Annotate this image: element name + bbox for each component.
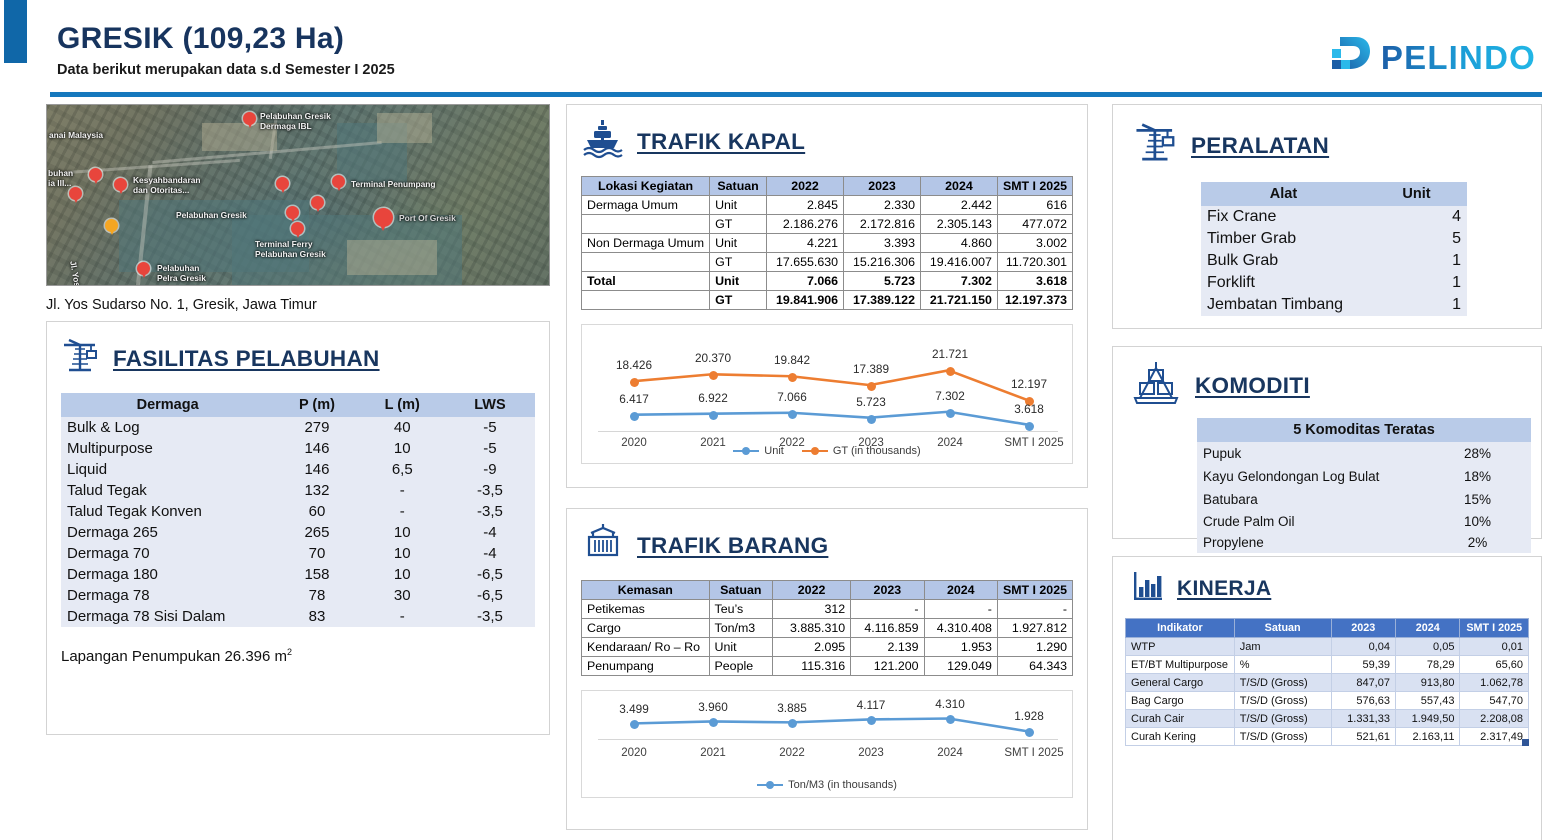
cell-p: 265	[274, 522, 359, 543]
chart-legend: Ton/M3 (in thousands)	[582, 779, 1072, 791]
cell-2024: 78,29	[1395, 656, 1459, 674]
pelindo-wordmark: PELINDO	[1381, 39, 1536, 77]
page-title: GRESIK (109,23 Ha)	[57, 22, 344, 56]
map-building	[377, 113, 432, 143]
page-subtitle: Data berikut merupakan data s.d Semester…	[57, 62, 395, 78]
chart-xtick: 2022	[754, 747, 830, 759]
table-row: GT17.655.63015.216.30619.416.00711.720.3…	[582, 253, 1073, 272]
cell-name: Dermaga 70	[61, 543, 274, 564]
map-label: Pelabuhan Pelra Gresik	[157, 263, 206, 283]
chart-point	[709, 718, 718, 727]
cell-lws: -5	[445, 417, 535, 438]
cell-p: 146	[274, 438, 359, 459]
chart-legend: Unit GT (in thousands)	[582, 445, 1072, 457]
legend-item-tonm3[interactable]: Ton/M3 (in thousands)	[757, 779, 897, 791]
chart-point	[946, 715, 955, 724]
cell-smt: 2.317,49	[1460, 728, 1529, 746]
legend-item-gt[interactable]: GT (in thousands)	[802, 445, 921, 457]
cell-komoditas: Crude Palm Oil	[1197, 511, 1424, 532]
chart-label-unit: 3.618	[991, 402, 1067, 416]
table-row: Talud Tegak132--3,5	[61, 480, 535, 501]
location-map[interactable]: Pelabuhan Gresik Dermaga IBL anai Malays…	[46, 104, 550, 286]
chart-point	[630, 720, 639, 729]
cell-l: 10	[360, 564, 445, 585]
cell-satuan: Unit	[710, 272, 767, 291]
cell-lws: -3,5	[445, 480, 535, 501]
cell-indikator: Curah Cair	[1126, 710, 1235, 728]
chart-xtick: 2023	[833, 747, 909, 759]
crane-icon	[61, 336, 101, 381]
col-smt: SMT I 2025	[997, 581, 1072, 600]
lapangan-penumpukan-text: Lapangan Penumpukan 26.396 m	[61, 648, 287, 665]
cell-2023: 521,61	[1331, 728, 1395, 746]
cell-alat: Fix Crane	[1201, 206, 1366, 228]
cell-satuan: GT	[710, 253, 767, 272]
cell-2024: 7.302	[920, 272, 997, 291]
col-2024: 2024	[1395, 619, 1459, 638]
cell-lokasi: Dermaga Umum	[582, 196, 710, 215]
chart-point-unit	[788, 410, 797, 419]
cell-smt: 3.618	[997, 272, 1072, 291]
cell-2022: 2.095	[773, 638, 851, 657]
cell-satuan: Unit	[710, 234, 767, 253]
lapangan-penumpukan-note: Lapangan Penumpukan 26.396 m2	[61, 647, 535, 665]
cell-name: Bulk & Log	[61, 417, 274, 438]
trafik-barang-heading: TRAFIK BARANG	[581, 521, 1073, 570]
map-label: Terminal Ferry Pelabuhan Gresik	[255, 239, 326, 259]
chart-label: 1.928	[991, 709, 1067, 723]
map-pin[interactable]	[137, 262, 150, 275]
cell-persen: 10%	[1424, 511, 1531, 532]
table-row: Dermaga UmumUnit2.8452.3302.442616	[582, 196, 1073, 215]
fasilitas-title: FASILITAS PELABUHAN	[113, 346, 380, 372]
map-label: Kesyahbandaran dan Otoritas...	[133, 175, 201, 195]
cell-alat: Jembatan Timbang	[1201, 294, 1366, 316]
cell-lokasi	[582, 253, 710, 272]
chart-label-unit: 6.417	[596, 392, 672, 406]
map-pin[interactable]	[276, 177, 289, 190]
chart-label-gt: 12.197	[991, 377, 1067, 391]
cell-smt: 1.062,78	[1460, 674, 1529, 692]
table-header-row: Indikator Satuan 2023 2024 SMT I 2025	[1126, 619, 1529, 638]
cell-lokasi	[582, 291, 710, 310]
legend-swatch-unit	[733, 450, 759, 453]
container-icon	[581, 521, 625, 570]
col-lws: LWS	[445, 393, 535, 417]
cell-2022: 312	[773, 600, 851, 619]
chart-point	[1025, 728, 1034, 737]
cell-lws: -4	[445, 543, 535, 564]
cargo-crate-icon	[1129, 359, 1183, 412]
cell-satuan: Unit	[710, 196, 767, 215]
cell-alat: Bulk Grab	[1201, 250, 1366, 272]
cell-persen: 28%	[1424, 442, 1531, 465]
cell-satuan: Ton/m3	[709, 619, 772, 638]
table-row: Non Dermaga UmumUnit4.2213.3934.8603.002	[582, 234, 1073, 253]
cell-l: 6,5	[360, 459, 445, 480]
cell-2023: 2.330	[844, 196, 921, 215]
table-row: Jembatan Timbang1	[1201, 294, 1467, 316]
table-row: Fix Crane4	[1201, 206, 1467, 228]
table-header-row: 5 Komoditas Teratas	[1197, 418, 1531, 442]
legend-label-gt: GT (in thousands)	[833, 445, 921, 457]
legend-swatch-gt	[802, 450, 828, 453]
map-label: Terminal Penumpang	[351, 179, 436, 189]
chart-label-gt: 19.842	[754, 353, 830, 367]
map-pin[interactable]	[69, 187, 82, 200]
port-address: Jl. Yos Sudarso No. 1, Gresik, Jawa Timu…	[46, 297, 558, 313]
col-2024: 2024	[924, 581, 997, 600]
cell-lokasi	[582, 215, 710, 234]
header-accent-bar	[4, 0, 27, 63]
cell-p: 78	[274, 585, 359, 606]
chart-point-unit	[630, 412, 639, 421]
komoditi-card: KOMODITI 5 Komoditas Teratas Pupuk28% Ka…	[1112, 346, 1542, 539]
cell-smt: 64.343	[997, 657, 1072, 676]
chart-point	[867, 716, 876, 725]
cell-satuan: GT	[710, 215, 767, 234]
cell-2024: 557,43	[1395, 692, 1459, 710]
cell-l: 10	[360, 522, 445, 543]
col-unit: Unit	[1366, 182, 1467, 206]
col-satuan: Satuan	[1234, 619, 1331, 638]
map-pin[interactable]	[286, 206, 299, 219]
col-dermaga: Dermaga	[61, 393, 274, 417]
cell-name: Talud Tegak	[61, 480, 274, 501]
cell-satuan: T/S/D (Gross)	[1234, 674, 1331, 692]
cell-smt: -	[997, 600, 1072, 619]
col-2022: 2022	[767, 177, 844, 196]
table-row: Dermaga 18015810-6,5	[61, 564, 535, 585]
map-pin[interactable]	[291, 222, 304, 235]
cell-kemasan: Penumpang	[582, 657, 710, 676]
cell-2023: 2.139	[851, 638, 924, 657]
chart-label-unit: 7.066	[754, 390, 830, 404]
cell-p: 83	[274, 606, 359, 627]
col-2022: 2022	[773, 581, 851, 600]
table-row: Timber Grab5	[1201, 228, 1467, 250]
cell-lws: -4	[445, 522, 535, 543]
col-kemasan: Kemasan	[582, 581, 710, 600]
cell-satuan: Jam	[1234, 638, 1331, 656]
komoditi-table-header: 5 Komoditas Teratas	[1197, 418, 1531, 442]
peralatan-title: PERALATAN	[1191, 133, 1329, 159]
chart-point-gt	[709, 371, 718, 380]
table-row: WTPJam0,040,050,01	[1126, 638, 1529, 656]
cell-2022: 7.066	[767, 272, 844, 291]
cell-2023: 5.723	[844, 272, 921, 291]
cell-2024: 2.442	[920, 196, 997, 215]
cell-2024: 1.949,50	[1395, 710, 1459, 728]
cell-unit: 4	[1366, 206, 1467, 228]
cell-satuan: %	[1234, 656, 1331, 674]
trafik-kapal-table: Lokasi Kegiatan Satuan 2022 2023 2024 SM…	[581, 176, 1073, 310]
col-satuan: Satuan	[709, 581, 772, 600]
map-label: anai Malaysia	[49, 130, 103, 140]
map-pin[interactable]	[332, 175, 345, 188]
cell-p: 132	[274, 480, 359, 501]
cell-lws: -3,5	[445, 606, 535, 627]
cell-lokasi: Non Dermaga Umum	[582, 234, 710, 253]
table-row-total: TotalUnit7.0665.7237.3023.618	[582, 272, 1073, 291]
cell-2023: 4.116.859	[851, 619, 924, 638]
col-indikator: Indikator	[1126, 619, 1235, 638]
cell-lws: -3,5	[445, 501, 535, 522]
ship-icon	[581, 117, 625, 166]
crane-icon	[1133, 119, 1179, 172]
table-row: Pupuk28%	[1197, 442, 1531, 465]
cell-l: -	[360, 501, 445, 522]
unit-superscript: 2	[287, 647, 292, 657]
table-row: ET/BT Multipurpose%59,3978,2965,60	[1126, 656, 1529, 674]
cell-smt: 2.208,08	[1460, 710, 1529, 728]
table-header-row: Lokasi Kegiatan Satuan 2022 2023 2024 SM…	[582, 177, 1073, 196]
pelindo-logo: PELINDO	[1326, 33, 1536, 82]
table-row: Talud Tegak Konven60--3,5	[61, 501, 535, 522]
table-row: Propylene2%	[1197, 532, 1531, 553]
col-l: L (m)	[360, 393, 445, 417]
kinerja-table-wrap: Indikator Satuan 2023 2024 SMT I 2025 WT…	[1125, 618, 1529, 746]
chart-label-gt: 20.370	[675, 351, 751, 365]
cell-p: 279	[274, 417, 359, 438]
legend-label-unit: Unit	[764, 445, 784, 457]
cell-satuan: T/S/D (Gross)	[1234, 710, 1331, 728]
cell-smt: 0,01	[1460, 638, 1529, 656]
cell-smt: 1.290	[997, 638, 1072, 657]
cell-p: 70	[274, 543, 359, 564]
peralatan-table: Alat Unit Fix Crane4 Timber Grab5 Bulk G…	[1201, 182, 1467, 316]
cell-lws: -9	[445, 459, 535, 480]
cell-unit: 5	[1366, 228, 1467, 250]
cell-name: Multipurpose	[61, 438, 274, 459]
cell-2024: 21.721.150	[920, 291, 997, 310]
trafik-barang-title: TRAFIK BARANG	[637, 533, 828, 559]
cell-2024: 913,80	[1395, 674, 1459, 692]
cell-l: -	[360, 480, 445, 501]
cell-2023: 17.389.122	[844, 291, 921, 310]
right-column: PERALATAN Alat Unit Fix Crane4 Timber Gr…	[1112, 104, 1542, 840]
cell-2022: 17.655.630	[767, 253, 844, 272]
legend-label-tonm3: Ton/M3 (in thousands)	[788, 779, 897, 791]
cell-unit: 1	[1366, 294, 1467, 316]
cell-2024: 129.049	[924, 657, 997, 676]
map-pin[interactable]	[311, 196, 324, 209]
cell-2024: -	[924, 600, 997, 619]
cell-2024: 1.953	[924, 638, 997, 657]
cell-2023: 121.200	[851, 657, 924, 676]
middle-column: TRAFIK KAPAL Lokasi Kegiatan Satuan 2022…	[566, 104, 1088, 830]
map-pin[interactable]	[89, 168, 102, 181]
cell-persen: 15%	[1424, 488, 1531, 511]
peralatan-card: PERALATAN Alat Unit Fix Crane4 Timber Gr…	[1112, 104, 1542, 329]
cell-2023: -	[851, 600, 924, 619]
cell-smt: 616	[997, 196, 1072, 215]
map-label: buhan ia III...	[48, 168, 73, 188]
table-row: General CargoT/S/D (Gross)847,07913,801.…	[1126, 674, 1529, 692]
chart-label: 3.499	[596, 702, 672, 716]
map-pin[interactable]	[243, 112, 256, 125]
chart-label: 3.885	[754, 701, 830, 715]
cell-p: 60	[274, 501, 359, 522]
kinerja-table: Indikator Satuan 2023 2024 SMT I 2025 WT…	[1125, 618, 1529, 746]
chart-xtick: 2024	[912, 747, 988, 759]
table-resize-handle[interactable]	[1522, 739, 1529, 746]
cell-lws: -6,5	[445, 564, 535, 585]
cell-persen: 18%	[1424, 465, 1531, 488]
cell-2024: 19.416.007	[920, 253, 997, 272]
chart-point-unit	[867, 415, 876, 424]
cell-2024: 4.860	[920, 234, 997, 253]
cell-name: Dermaga 78 Sisi Dalam	[61, 606, 274, 627]
chart-point-unit	[709, 411, 718, 420]
chart-label-unit: 7.302	[912, 389, 988, 403]
chart-point-gt	[946, 367, 955, 376]
map-pin[interactable]	[114, 178, 127, 191]
cell-satuan: T/S/D (Gross)	[1234, 692, 1331, 710]
komoditi-heading: KOMODITI	[1125, 359, 1529, 412]
cell-indikator: Bag Cargo	[1126, 692, 1235, 710]
map-label: Pelabuhan Gresik	[176, 210, 247, 220]
map-building	[347, 240, 437, 275]
fasilitas-card: FASILITAS PELABUHAN Dermaga P (m) L (m) …	[46, 321, 550, 735]
chart-label-gt: 18.426	[596, 358, 672, 372]
cell-2023: 59,39	[1331, 656, 1395, 674]
trafik-kapal-title: TRAFIK KAPAL	[637, 129, 805, 155]
map-pin-restaurant[interactable]	[105, 219, 118, 232]
cell-name: Dermaga 78	[61, 585, 274, 606]
table-row: Curah KeringT/S/D (Gross)521,612.163,112…	[1126, 728, 1529, 746]
cell-satuan: Unit	[709, 638, 772, 657]
chart-xtick: 2020	[596, 747, 672, 759]
table-header-row: Dermaga P (m) L (m) LWS	[61, 393, 535, 417]
cell-2023: 576,63	[1331, 692, 1395, 710]
cell-unit: 1	[1366, 272, 1467, 294]
table-row: Kayu Gelondongan Log Bulat18%	[1197, 465, 1531, 488]
cell-2023: 1.331,33	[1331, 710, 1395, 728]
table-row: Forklift1	[1201, 272, 1467, 294]
col-alat: Alat	[1201, 182, 1366, 206]
cell-2022: 2.845	[767, 196, 844, 215]
chart-point	[788, 719, 797, 728]
cell-name: Talud Tegak Konven	[61, 501, 274, 522]
trafik-barang-card: TRAFIK BARANG Kemasan Satuan 2022 2023 2…	[566, 508, 1088, 830]
chart-point-gt	[867, 382, 876, 391]
cell-komoditas: Batubara	[1197, 488, 1424, 511]
table-row: Liquid1466,5-9	[61, 459, 535, 480]
cell-satuan: GT	[710, 291, 767, 310]
table-row: Dermaga 787830-6,5	[61, 585, 535, 606]
cell-l: 10	[360, 438, 445, 459]
trafik-barang-chart[interactable]: 3.499 3.960 3.885 4.117 4.310 1.928 2020…	[581, 690, 1073, 798]
chart-xtick: 2021	[675, 747, 751, 759]
table-row: Crude Palm Oil10%	[1197, 511, 1531, 532]
cell-l: -	[360, 606, 445, 627]
table-row: GT2.186.2762.172.8162.305.143477.072	[582, 215, 1073, 234]
chart-label: 4.310	[912, 697, 988, 711]
komoditi-table: 5 Komoditas Teratas Pupuk28% Kayu Gelond…	[1197, 418, 1531, 553]
cell-smt: 11.720.301	[997, 253, 1072, 272]
table-row: Dermaga 26526510-4	[61, 522, 535, 543]
cell-lokasi: Total	[582, 272, 710, 291]
legend-item-unit[interactable]: Unit	[733, 445, 784, 457]
trafik-kapal-heading: TRAFIK KAPAL	[581, 117, 1073, 166]
chart-label-gt: 17.389	[833, 362, 909, 376]
cell-2022: 115.316	[773, 657, 851, 676]
col-2024: 2024	[920, 177, 997, 196]
col-lokasi: Lokasi Kegiatan	[582, 177, 710, 196]
table-row: Dermaga 707010-4	[61, 543, 535, 564]
cell-kemasan: Petikemas	[582, 600, 710, 619]
table-header-row: Kemasan Satuan 2022 2023 2024 SMT I 2025	[582, 581, 1073, 600]
table-row: Kendaraan/ Ro – RoUnit2.0952.1391.9531.2…	[582, 638, 1073, 657]
trafik-kapal-chart[interactable]: 18.426 20.370 19.842 17.389 21.721 12.19…	[581, 324, 1073, 464]
chart-label-gt: 21.721	[912, 347, 988, 361]
cell-p: 146	[274, 459, 359, 480]
table-row: PenumpangPeople115.316121.200129.04964.3…	[582, 657, 1073, 676]
cell-2024: 0,05	[1395, 638, 1459, 656]
cell-l: 40	[360, 417, 445, 438]
col-smt: SMT I 2025	[997, 177, 1072, 196]
cell-l: 10	[360, 543, 445, 564]
trafik-barang-table: Kemasan Satuan 2022 2023 2024 SMT I 2025…	[581, 580, 1073, 676]
cell-kemasan: Kendaraan/ Ro – Ro	[582, 638, 710, 657]
map-label: Port Of Gresik	[399, 213, 456, 223]
table-row: Bulk Grab1	[1201, 250, 1467, 272]
table-row: PetikemasTeu’s312---	[582, 600, 1073, 619]
table-row: Batubara15%	[1197, 488, 1531, 511]
chart-label-unit: 6.922	[675, 391, 751, 405]
col-2023: 2023	[851, 581, 924, 600]
kinerja-card: KINERJA Indikator Satuan 2023 2024 SMT I…	[1112, 556, 1542, 840]
cell-name: Dermaga 265	[61, 522, 274, 543]
table-row: Bag CargoT/S/D (Gross)576,63557,43547,70	[1126, 692, 1529, 710]
col-satuan: Satuan	[710, 177, 767, 196]
cell-alat: Forklift	[1201, 272, 1366, 294]
left-column: Pelabuhan Gresik Dermaga IBL anai Malays…	[46, 104, 558, 735]
kinerja-title: KINERJA	[1177, 577, 1271, 601]
chart-label: 4.117	[833, 698, 909, 712]
cell-2023: 3.393	[844, 234, 921, 253]
cell-l: 30	[360, 585, 445, 606]
chart-label-unit: 5.723	[833, 395, 909, 409]
chart-point-gt	[788, 373, 797, 382]
cell-p: 158	[274, 564, 359, 585]
cell-unit: 1	[1366, 250, 1467, 272]
cell-persen: 2%	[1424, 532, 1531, 553]
cell-smt: 65,60	[1460, 656, 1529, 674]
peralatan-heading: PERALATAN	[1127, 119, 1527, 172]
cell-name: Liquid	[61, 459, 274, 480]
cell-satuan: Teu’s	[709, 600, 772, 619]
chart-xtick: SMT I 2025	[991, 747, 1077, 759]
cell-komoditas: Pupuk	[1197, 442, 1424, 465]
table-row: Multipurpose14610-5	[61, 438, 535, 459]
cell-lws: -6,5	[445, 585, 535, 606]
cell-indikator: General Cargo	[1126, 674, 1235, 692]
cell-2024: 2.163,11	[1395, 728, 1459, 746]
dashboard-page: GRESIK (109,23 Ha) Data berikut merupaka…	[0, 0, 1558, 840]
cell-2023: 847,07	[1331, 674, 1395, 692]
cell-komoditas: Kayu Gelondongan Log Bulat	[1197, 465, 1424, 488]
cell-2022: 19.841.906	[767, 291, 844, 310]
cell-indikator: Curah Kering	[1126, 728, 1235, 746]
cell-2022: 4.221	[767, 234, 844, 253]
cell-komoditas: Propylene	[1197, 532, 1424, 553]
map-pin-primary[interactable]	[374, 208, 393, 227]
col-smt: SMT I 2025	[1460, 619, 1529, 638]
cell-name: Dermaga 180	[61, 564, 274, 585]
cell-2022: 2.186.276	[767, 215, 844, 234]
